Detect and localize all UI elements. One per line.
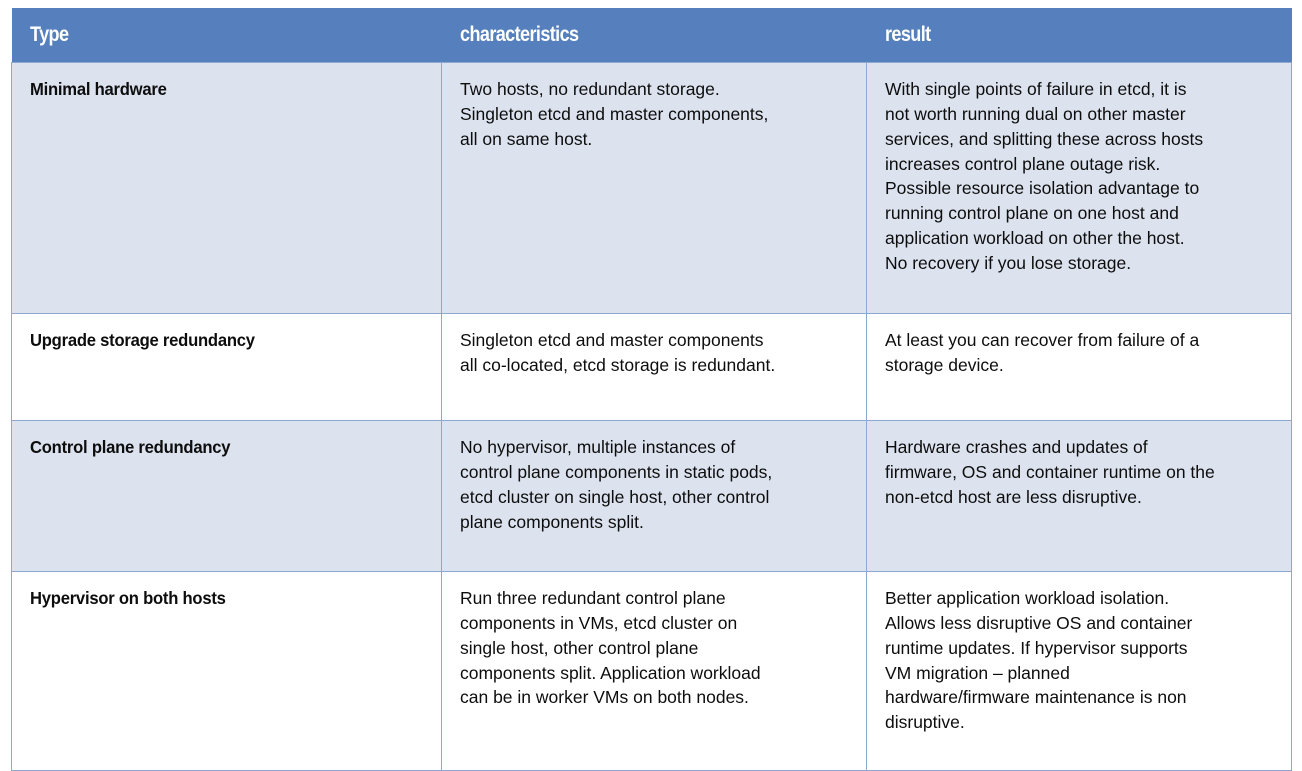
cell-type-text: Hypervisor on both hosts [30,586,226,611]
column-header-type-label: Type [30,23,68,47]
cell-type-text: Minimal hardware [30,77,167,102]
cell-result: With single points of failure in etcd, i… [867,63,1292,314]
column-header-characteristics-label: characteristics [460,23,578,47]
cell-result-text: With single points of failure in etcd, i… [885,77,1275,276]
table-header-row: Type characteristics result [12,8,1292,63]
cell-characteristics: Singleton etcd and master components all… [442,314,867,421]
table-row: Hypervisor on both hosts Run three redun… [12,572,1292,771]
table-row: Upgrade storage redundancy Singleton etc… [12,314,1292,421]
page-root: Type characteristics result Minimal hard… [0,0,1302,708]
cell-characteristics: Run three redundant control plane compon… [442,572,867,771]
cell-characteristics-text: Run three redundant control plane compon… [460,586,850,710]
column-header-result: result [867,8,1292,63]
comparison-table: Type characteristics result Minimal hard… [11,8,1292,771]
cell-characteristics-text: Two hosts, no redundant storage. Singlet… [460,77,850,152]
cell-result-text: Hardware crashes and updates of firmware… [885,435,1275,510]
cell-result-text: At least you can recover from failure of… [885,328,1275,378]
table-header: Type characteristics result [12,8,1292,63]
column-header-characteristics: characteristics [442,8,867,63]
cell-characteristics-text: No hypervisor, multiple instances of con… [460,435,850,534]
cell-type: Control plane redundancy [12,421,442,572]
table-row: Control plane redundancy No hypervisor, … [12,421,1292,572]
cell-result: Hardware crashes and updates of firmware… [867,421,1292,572]
cell-type: Upgrade storage redundancy [12,314,442,421]
cell-type: Minimal hardware [12,63,442,314]
table-row: Minimal hardware Two hosts, no redundant… [12,63,1292,314]
column-header-type: Type [12,8,442,63]
cell-type-text: Upgrade storage redundancy [30,328,255,353]
comparison-table-container: Type characteristics result Minimal hard… [11,8,1291,771]
cell-type: Hypervisor on both hosts [12,572,442,771]
cell-result-text: Better application workload isolation. A… [885,586,1275,735]
cell-characteristics: Two hosts, no redundant storage. Singlet… [442,63,867,314]
cell-characteristics-text: Singleton etcd and master components all… [460,328,850,378]
cell-type-text: Control plane redundancy [30,435,230,460]
cell-result: Better application workload isolation. A… [867,572,1292,771]
table-body: Minimal hardware Two hosts, no redundant… [12,63,1292,771]
column-header-result-label: result [885,23,931,47]
cell-characteristics: No hypervisor, multiple instances of con… [442,421,867,572]
cell-result: At least you can recover from failure of… [867,314,1292,421]
